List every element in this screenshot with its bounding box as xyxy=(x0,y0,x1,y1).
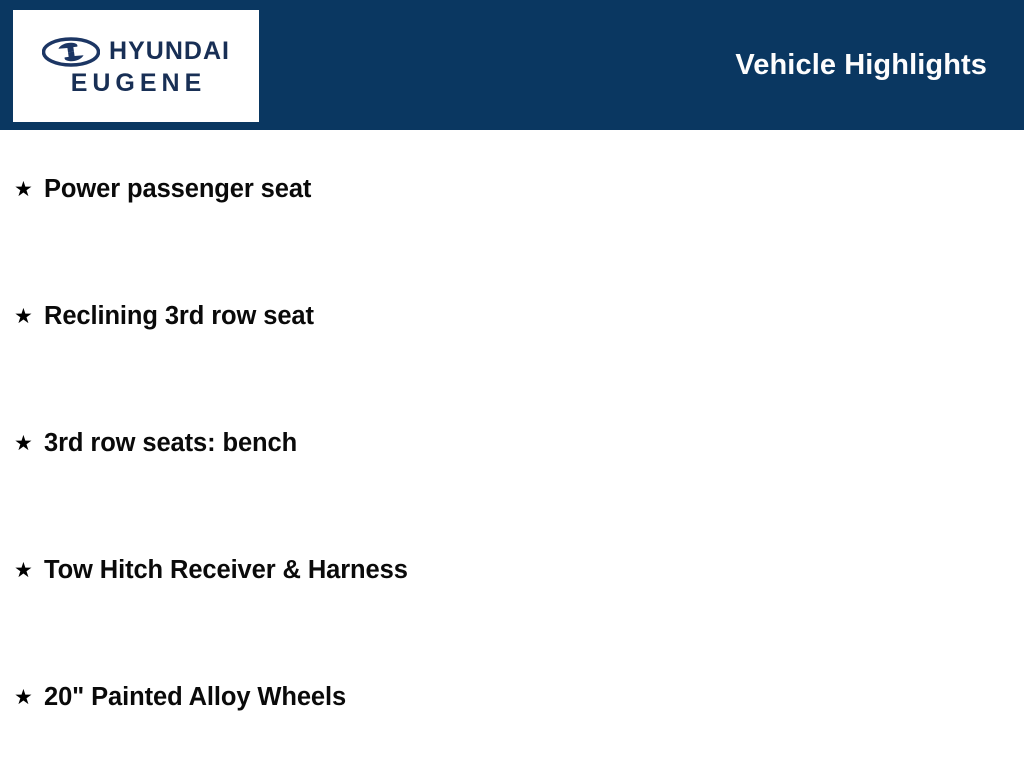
logo-brand-row: HYUNDAI xyxy=(42,37,230,67)
list-item: ★ Tow Hitch Receiver & Harness xyxy=(14,554,408,588)
header-bar: HYUNDAI EUGENE Vehicle Highlights xyxy=(0,0,1024,130)
vehicle-highlights-page: HYUNDAI EUGENE Vehicle Highlights ★ Powe… xyxy=(0,0,1024,768)
star-bullet-icon: ★ xyxy=(14,306,44,327)
star-bullet-icon: ★ xyxy=(14,560,44,581)
hyundai-h-emblem-icon xyxy=(42,37,100,67)
dealer-logo[interactable]: HYUNDAI EUGENE xyxy=(13,10,259,122)
highlight-label: 20" Painted Alloy Wheels xyxy=(44,685,346,711)
highlight-label: Reclining 3rd row seat xyxy=(44,304,314,330)
page-title: Vehicle Highlights xyxy=(735,0,987,130)
dealership-name-text: EUGENE xyxy=(66,71,207,96)
star-bullet-icon: ★ xyxy=(14,179,44,200)
highlight-label: Tow Hitch Receiver & Harness xyxy=(44,558,408,584)
vehicle-highlights-list: ★ Power passenger seat ★ Reclining 3rd r… xyxy=(0,130,1024,768)
list-item: ★ Power passenger seat xyxy=(14,173,311,207)
star-bullet-icon: ★ xyxy=(14,433,44,454)
list-item: ★ Reclining 3rd row seat xyxy=(14,300,314,334)
highlight-label: 3rd row seats: bench xyxy=(44,431,297,457)
star-bullet-icon: ★ xyxy=(14,687,44,708)
list-item: ★ 3rd row seats: bench xyxy=(14,427,297,461)
hyundai-brand-text: HYUNDAI xyxy=(109,39,230,64)
list-item: ★ 20" Painted Alloy Wheels xyxy=(14,681,346,715)
highlight-label: Power passenger seat xyxy=(44,177,311,203)
